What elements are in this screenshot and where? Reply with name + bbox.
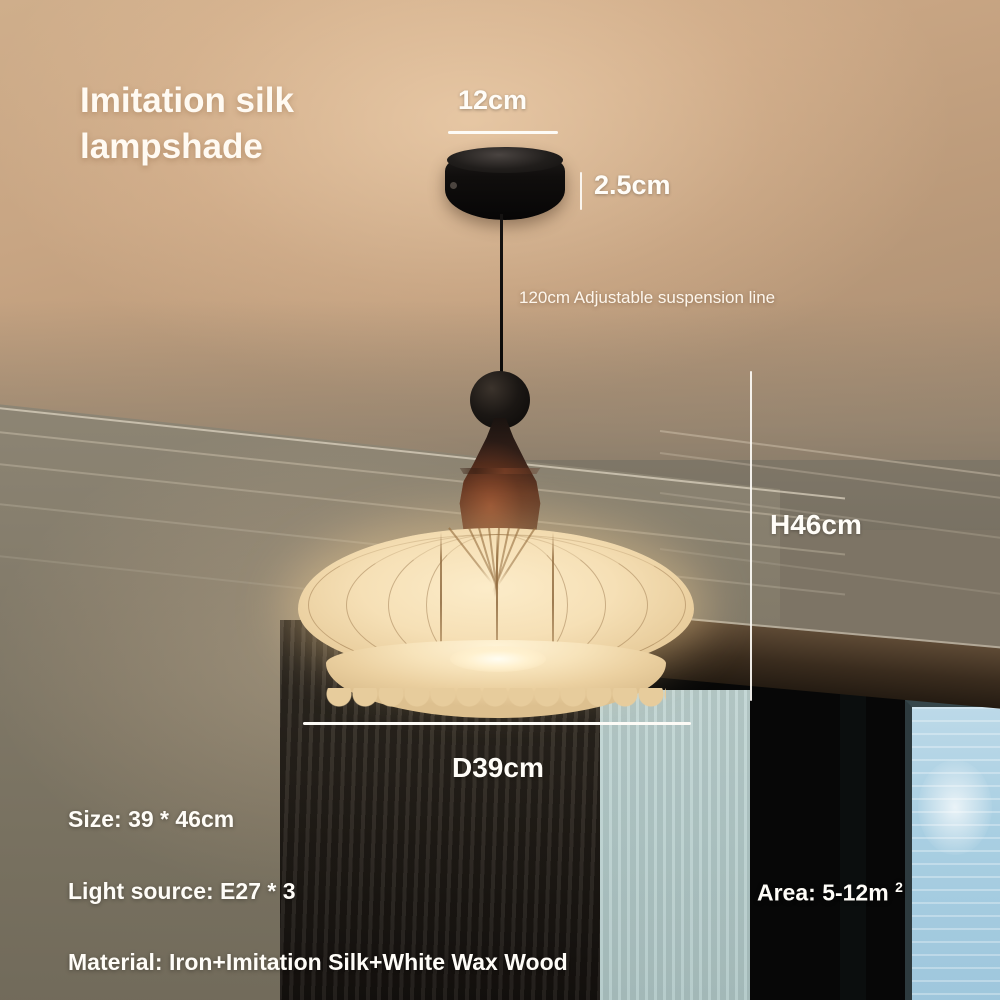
canopy-height-label: 2.5cm xyxy=(594,170,671,201)
canopy-width-measure-line xyxy=(448,131,558,134)
spec-area-text: Area: 5-12m xyxy=(757,880,889,906)
suspension-cord-icon xyxy=(500,214,503,386)
canopy-height-measure-line xyxy=(580,172,582,210)
window-mullion xyxy=(840,655,866,1000)
shade-height-measure-line xyxy=(750,371,752,701)
product-dimension-photo: Imitation silk lampshade 12cm 2.5cm 120c… xyxy=(0,0,1000,1000)
page-title: Imitation silk lampshade xyxy=(80,78,294,170)
spec-area: Area: 5-12m 2 xyxy=(757,879,903,907)
shade-diameter-label: D39cm xyxy=(452,752,544,784)
sheer-curtain xyxy=(600,690,750,1000)
spec-area-superscript: 2 xyxy=(895,879,903,895)
spec-light-source: Light source: E27 * 3 xyxy=(68,878,296,905)
suspension-line-label: 120cm Adjustable suspension line xyxy=(519,288,775,308)
window-light-reflection xyxy=(918,760,992,855)
spec-size: Size: 39 * 46cm xyxy=(68,806,234,833)
canopy-screw-icon xyxy=(450,182,457,189)
silk-lampshade-icon xyxy=(298,528,694,718)
spec-material: Material: Iron+Imitation Silk+White Wax … xyxy=(68,949,568,976)
canopy-top-face xyxy=(447,147,563,173)
bulb-glow xyxy=(450,646,546,672)
lampshade-scalloped-edge xyxy=(326,688,666,722)
wood-stem-band xyxy=(452,468,548,474)
canopy-width-label: 12cm xyxy=(458,85,527,116)
shade-diameter-measure-line xyxy=(303,722,691,725)
shade-height-label: H46cm xyxy=(770,509,862,541)
